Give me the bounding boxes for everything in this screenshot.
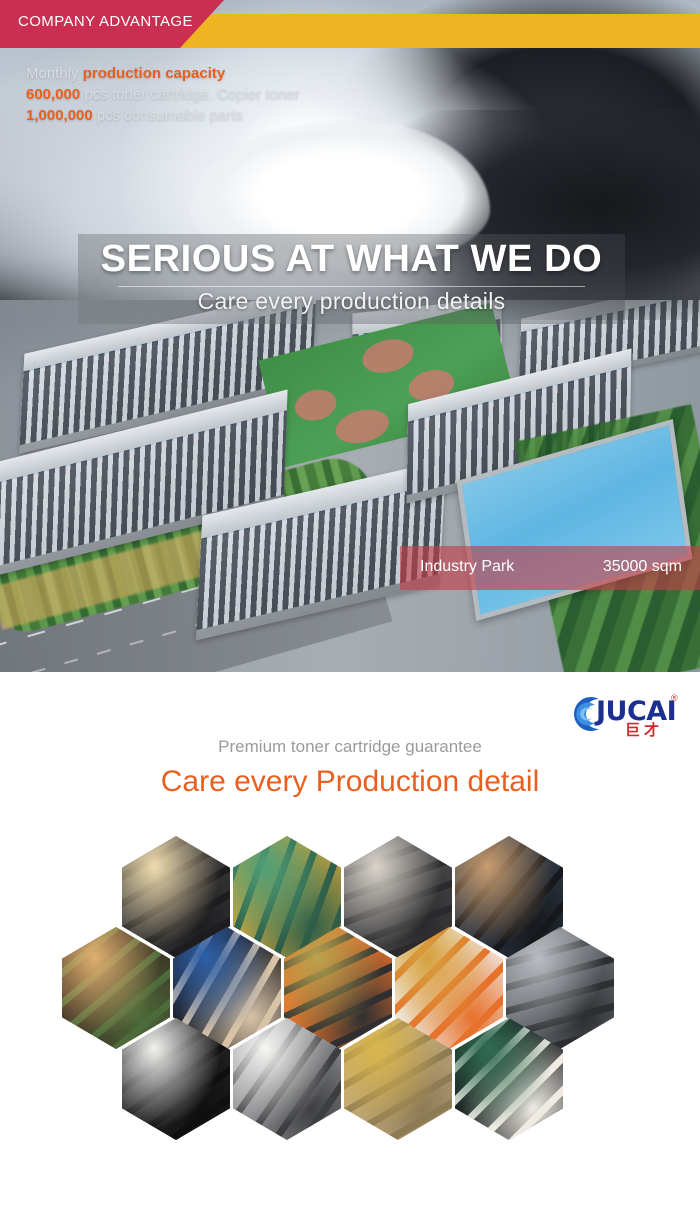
production-capacity-text: Monthly production capacity 600,000 pcs … — [26, 63, 300, 126]
capacity-line-3: 1,000,000 pcs consumable parts — [26, 105, 300, 126]
hero-banner: COMPANY ADVANTAGE Monthly production cap… — [0, 0, 700, 672]
capacity-line-1-highlight: production capacity — [83, 65, 226, 82]
headline-divider — [118, 286, 585, 287]
capacity-line-3-rest: pcs consumable parts — [93, 107, 243, 124]
company-advantage-ribbon: COMPANY ADVANTAGE — [0, 0, 700, 48]
industry-park-strip: Industry Park 35000 sqm — [400, 546, 700, 590]
hex-photo-drum-inspect — [62, 927, 170, 1049]
industry-park-label: Industry Park — [420, 558, 514, 576]
factory-campus-model-photo — [0, 300, 700, 672]
capacity-line-2: 600,000 pcs toner cartridge. Copier tone… — [26, 84, 300, 105]
capacity-line-2-highlight: 600,000 — [26, 86, 80, 103]
hero-subheadline: Care every production details — [78, 288, 625, 315]
hero-headline-overlay: SERIOUS AT WHAT WE DO Care every product… — [78, 234, 625, 324]
capacity-line-1: Monthly production capacity — [26, 63, 300, 84]
capacity-line-2-rest: pcs toner cartridge. Copier toner — [80, 86, 299, 103]
capacity-line-1-prefix: Monthly — [26, 65, 83, 82]
capacity-line-3-highlight: 1,000,000 — [26, 107, 93, 124]
section-title: Care every Production detail — [0, 765, 700, 799]
hex-photo-fill — [62, 927, 170, 1049]
jucai-logo: JUCAI ® 巨才 — [568, 692, 690, 738]
hero-headline: SERIOUS AT WHAT WE DO — [78, 238, 625, 281]
section-subtitle: Premium toner cartridge guarantee — [0, 737, 700, 757]
company-advantage-page: COMPANY ADVANTAGE Monthly production cap… — [0, 0, 700, 1221]
ribbon-title: COMPANY ADVANTAGE — [18, 13, 193, 30]
industry-park-area: 35000 sqm — [603, 558, 682, 576]
production-hex-gallery — [0, 836, 700, 1166]
registered-trademark-icon: ® — [671, 693, 678, 703]
ribbon-gold-band — [158, 14, 700, 48]
